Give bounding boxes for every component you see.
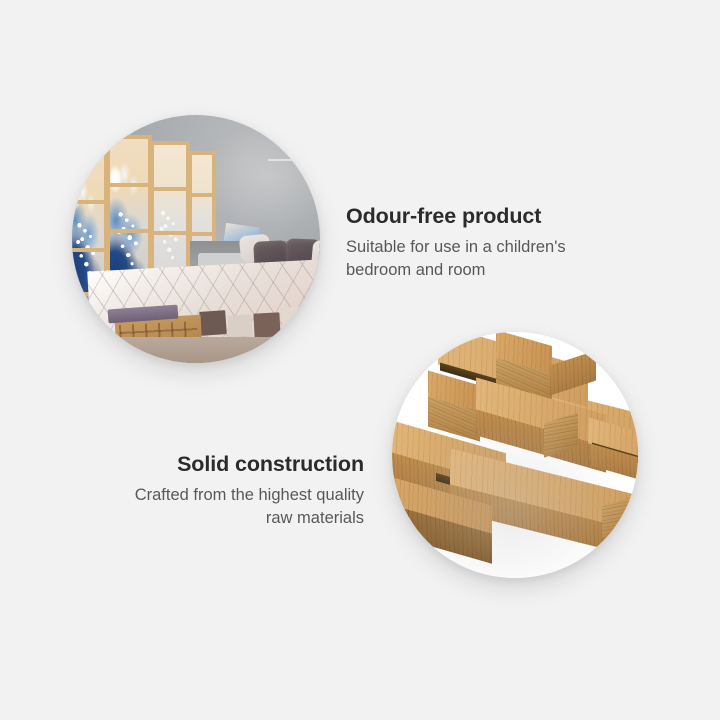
feature-description-line-2: bedroom and room <box>346 261 485 279</box>
infographic-canvas: Odour-free product Suitable for use in a… <box>0 0 720 720</box>
quilt-patch <box>282 307 307 332</box>
divider-panel-2 <box>106 135 152 288</box>
quilt-patch <box>227 314 252 337</box>
feature-description-line-1: Suitable for use in a children's <box>346 238 566 256</box>
feature-title: Solid construction <box>114 452 364 478</box>
floor <box>72 337 320 363</box>
feature-description-line-1: Crafted from the highest quality <box>135 486 364 504</box>
wall-frame-corner <box>268 159 320 195</box>
feature-text-solid-construction: Solid construction Crafted from the high… <box>114 452 364 531</box>
wood-beams-photo-circle <box>392 332 638 578</box>
quilt-patch <box>304 301 320 327</box>
wood-beams-scene <box>392 332 638 578</box>
bedroom-scene <box>72 115 320 363</box>
feature-description: Crafted from the highest quality raw mat… <box>114 484 364 531</box>
scene-soft-shadow <box>392 332 638 578</box>
feature-title: Odour-free product <box>346 204 596 230</box>
divider-panel-3 <box>150 141 190 280</box>
feature-description: Suitable for use in a children's bedroom… <box>346 236 596 283</box>
bedroom-photo-circle <box>72 115 320 363</box>
feature-description-line-2: raw materials <box>266 509 364 527</box>
quilt-patch <box>253 312 280 337</box>
feature-text-odour-free: Odour-free product Suitable for use in a… <box>346 204 596 283</box>
quilt-patch <box>199 310 227 336</box>
great-wave-artwork <box>110 139 148 284</box>
